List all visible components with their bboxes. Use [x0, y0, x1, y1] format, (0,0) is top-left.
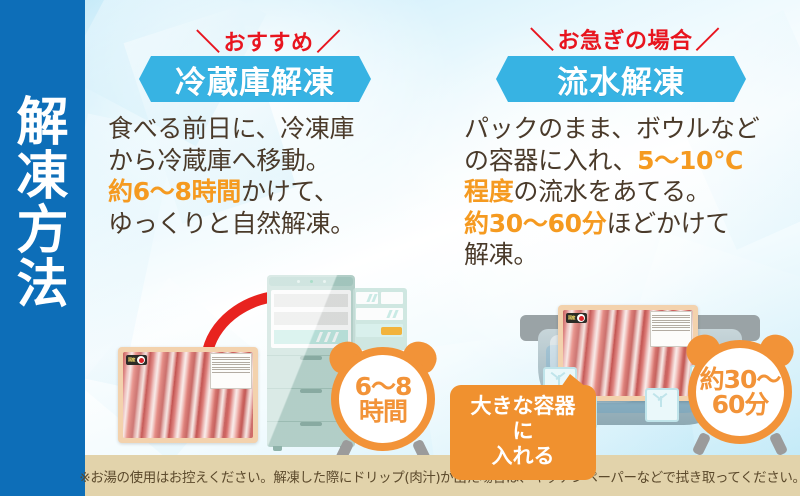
- slash-left-icon: ＼: [196, 22, 221, 57]
- method-2-tag-label: お急ぎの場合: [558, 29, 693, 54]
- method-2-banner-label: 流水解凍: [557, 57, 685, 102]
- sidebar: 解 凍 方 法: [0, 0, 85, 496]
- slash-right-icon: ／: [696, 20, 721, 55]
- clock-face: 約30〜 60分: [688, 340, 792, 444]
- footer-note-bar: ※お湯の使用はお控えください。解凍した際にドリップ(肉汁)が出た場合は、キッチン…: [85, 455, 800, 496]
- method-1-line-3: 約6〜8時間かけて、: [108, 176, 408, 208]
- ice-cube-icon: [645, 388, 675, 418]
- text-run: 食べる前日に、冷凍庫: [108, 114, 354, 143]
- callout-line-2: 入れる: [464, 444, 582, 469]
- text-run: ほどかけて: [606, 209, 730, 238]
- clock-face: 6〜8 時間: [331, 347, 435, 451]
- thawing-instructions-graphic: 解 凍 方 法 ＼おすすめ／ 冷蔵庫解凍 食べる前日に、冷凍庫 から冷蔵庫へ移動…: [0, 0, 800, 496]
- brand-sticker-text: 国産: [128, 357, 135, 363]
- method-2-line-2: の容器に入れ、5〜10℃: [464, 145, 794, 177]
- brand-sticker: 国産: [566, 313, 587, 323]
- sidebar-title-char-1: 解: [0, 96, 85, 150]
- method-2-line-1: パックのまま、ボウルなど: [464, 113, 794, 145]
- text-highlight: 程度: [464, 177, 513, 206]
- brand-sticker-text: 国産: [568, 315, 575, 321]
- price-label: [650, 311, 692, 347]
- method-1-line-2: から冷蔵庫へ移動。: [108, 145, 408, 177]
- method-1-line-4: ゆっくりと自然解凍。: [108, 208, 408, 240]
- text-highlight: 約6〜8時間: [108, 177, 241, 206]
- callout-line-1: 大きな容器に: [464, 394, 582, 444]
- japan-flag-icon: [137, 356, 145, 364]
- method-2-line-3: 程度の流水をあてる。: [464, 176, 794, 208]
- method-2-description: パックのまま、ボウルなど の容器に入れ、5〜10℃ 程度の流水をあてる。 約30…: [464, 113, 794, 271]
- slash-right-icon: ／: [317, 22, 342, 57]
- text-run: の流水をあてる。: [513, 177, 710, 206]
- meat-tray-illustration-1: 国産: [118, 347, 258, 443]
- method-1-description: 食べる前日に、冷凍庫 から冷蔵庫へ移動。 約6〜8時間かけて、 ゆっくりと自然解…: [108, 113, 408, 239]
- method-1-time-line-1: 6〜8: [355, 374, 412, 400]
- slash-left-icon: ＼: [530, 20, 555, 55]
- method-2-line-4: 約30〜60分ほどかけて: [464, 208, 794, 240]
- text-run: の容器に入れ、: [464, 146, 637, 175]
- japan-flag-icon: [577, 314, 585, 322]
- brand-sticker: 国産: [126, 355, 147, 365]
- method-2-time-line-1: 約30〜: [700, 367, 781, 393]
- method-1-banner-label: 冷蔵庫解凍: [175, 57, 335, 102]
- text-run: から冷蔵庫へ移動。: [108, 146, 330, 175]
- method-2-time-badge: 約30〜 60分: [688, 340, 792, 444]
- sidebar-vertical-title: 解 凍 方 法: [0, 96, 85, 312]
- text-highlight: 5〜10℃: [637, 146, 743, 175]
- callout-tail: [561, 374, 586, 387]
- text-run: ゆっくりと自然解凍。: [108, 209, 355, 238]
- sidebar-title-char-2: 凍: [0, 150, 85, 204]
- method-1-recommend-tag: ＼おすすめ／: [196, 22, 341, 57]
- sidebar-title-char-3: 方: [0, 204, 85, 258]
- text-run: パックのまま、ボウルなど: [464, 114, 759, 143]
- fridge-door: [353, 288, 407, 350]
- method-1-tag-label: おすすめ: [224, 31, 314, 56]
- method-1-banner: 冷蔵庫解凍: [139, 56, 371, 102]
- method-2-banner: 流水解凍: [496, 56, 746, 102]
- method-2-hurry-tag: ＼お急ぎの場合／: [530, 20, 720, 55]
- text-highlight: 約30〜60分: [464, 209, 606, 238]
- large-container-callout: 大きな容器に 入れる: [450, 385, 596, 480]
- text-run: 解凍。: [464, 240, 538, 269]
- fridge-butter-box: [381, 327, 402, 335]
- method-2-line-5: 解凍。: [464, 239, 794, 271]
- method-1-time-badge: 6〜8 時間: [331, 347, 435, 451]
- footer-note-text: ※お湯の使用はお控えください。解凍した際にドリップ(肉汁)が出た場合は、キッチン…: [79, 466, 800, 486]
- price-label: [210, 353, 252, 389]
- sidebar-title-char-4: 法: [0, 258, 85, 312]
- method-1-line-1: 食べる前日に、冷凍庫: [108, 113, 408, 145]
- text-run: かけて、: [241, 177, 339, 206]
- method-1-time-line-2: 時間: [359, 399, 407, 425]
- method-2-time-line-2: 60分: [712, 392, 769, 418]
